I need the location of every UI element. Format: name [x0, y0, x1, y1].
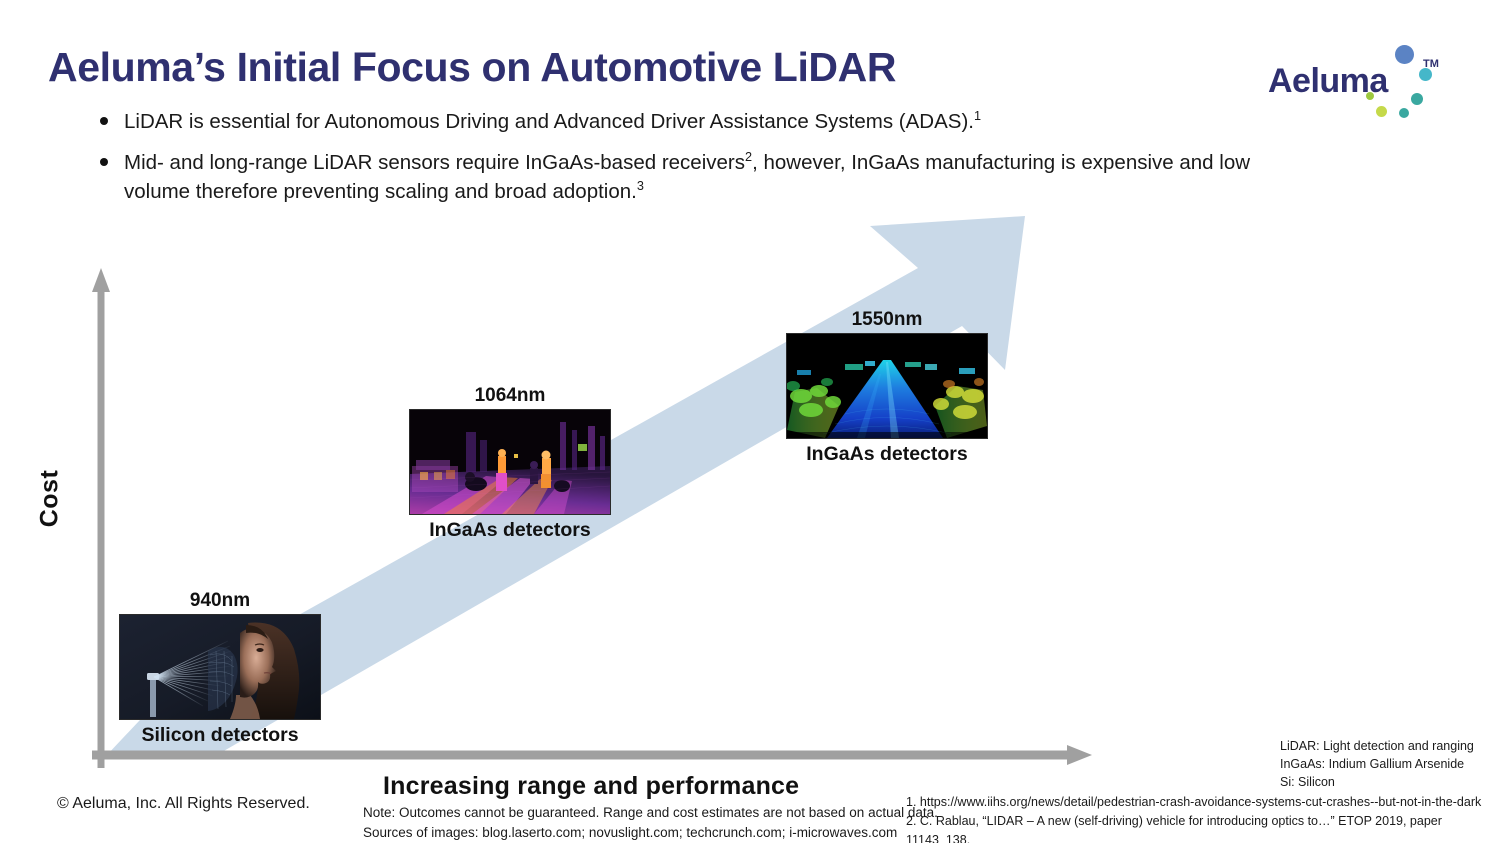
bullet-text-1: LiDAR is essential for Autonomous Drivin… — [124, 107, 981, 136]
bullet-dot-icon — [100, 158, 108, 166]
note-line-2: Sources of images: blog.laserto.com; nov… — [363, 823, 938, 843]
reference-1: 1. https://www.iihs.org/news/detail/pede… — [906, 793, 1500, 812]
bullet-dot-icon — [100, 117, 108, 125]
x-axis-arrow — [92, 745, 1092, 765]
page-title: Aeluma’s Initial Focus on Automotive LiD… — [48, 44, 896, 91]
detector-label-ingaas-1550: InGaAs detectors — [746, 443, 1028, 466]
abbreviation-ingaas: InGaAs: Indium Gallium Arsenide — [1280, 756, 1474, 774]
image-face-scanning-3d-sensing — [119, 614, 321, 720]
copyright-text: © Aeluma, Inc. All Rights Reserved. — [57, 795, 310, 813]
logo-dot-cyan — [1411, 93, 1423, 105]
bullet-item-1: LiDAR is essential for Autonomous Drivin… — [100, 107, 1340, 136]
image-lidar-long-range-road — [786, 333, 988, 439]
bullet-text-2-part-1: Mid- and long-range LiDAR sensors requir… — [124, 151, 745, 174]
logo-dot-blue — [1395, 45, 1414, 64]
detector-label-silicon: Silicon detectors — [79, 724, 361, 747]
wavelength-label-1064nm: 1064nm — [409, 385, 611, 407]
note-line-1: Note: Outcomes cannot be guaranteed. Ran… — [363, 803, 938, 823]
bullet-superscript-2b: 3 — [637, 178, 644, 193]
slide-canvas: Aeluma’s Initial Focus on Automotive LiD… — [0, 0, 1500, 843]
logo-dot-green — [1376, 106, 1387, 117]
reference-2: 2. C. Rablau, “LIDAR – A new (self-drivi… — [906, 812, 1500, 843]
wavelength-label-940nm: 940nm — [119, 590, 321, 612]
y-axis-arrow — [92, 268, 110, 768]
image-lidar-street-crosswalk — [409, 409, 611, 515]
abbreviations-block: LiDAR: Light detection and ranging InGaA… — [1280, 738, 1474, 791]
bullet-text-2: Mid- and long-range LiDAR sensors requir… — [124, 148, 1280, 206]
x-axis-label: Increasing range and performance — [383, 772, 799, 801]
bullet-item-2: Mid- and long-range LiDAR sensors requir… — [100, 148, 1280, 206]
wavelength-label-1550nm: 1550nm — [786, 309, 988, 331]
logo-dot-teal-bottom — [1399, 108, 1409, 118]
detector-label-ingaas-1064: InGaAs detectors — [369, 519, 651, 542]
notes-block: Note: Outcomes cannot be guaranteed. Ran… — [363, 803, 938, 842]
bullet-superscript-1: 1 — [974, 108, 981, 123]
logo-wordmark: Aeluma — [1268, 62, 1388, 101]
references-block: 1. https://www.iihs.org/news/detail/pede… — [906, 793, 1500, 843]
abbreviation-lidar: LiDAR: Light detection and ranging — [1280, 738, 1474, 756]
y-axis-label: Cost — [36, 439, 65, 559]
abbreviation-si: Si: Silicon — [1280, 774, 1474, 792]
logo-trademark: TM — [1423, 58, 1439, 70]
bullet-text-1-body: LiDAR is essential for Autonomous Drivin… — [124, 110, 974, 133]
